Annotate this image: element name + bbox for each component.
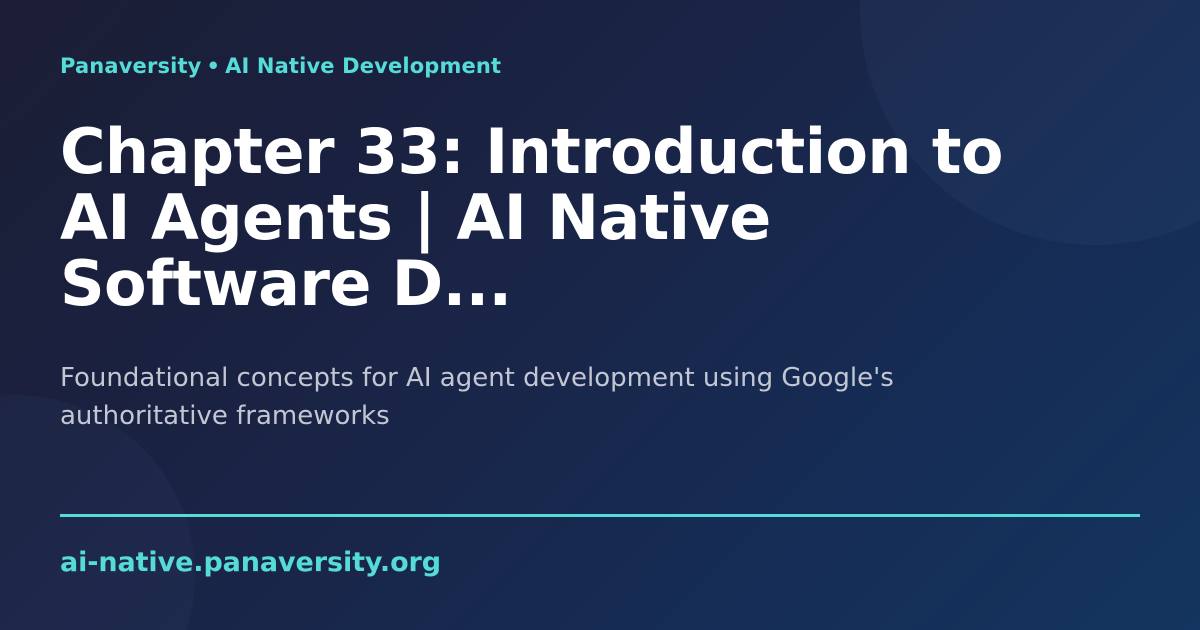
open-graph-card: Panaversity•AI Native Development Chapte… [0,0,1200,630]
card-content: Panaversity•AI Native Development Chapte… [0,0,1200,630]
content-spacer [60,435,1140,514]
brand-name: Panaversity [60,54,201,78]
category-label: AI Native Development [225,54,501,78]
footer-divider [60,514,1140,517]
eyebrow: Panaversity•AI Native Development [60,56,1140,77]
page-subtitle: Foundational concepts for AI agent devel… [60,359,990,435]
bullet-separator-icon: • [201,54,225,78]
card-footer: ai-native.panaversity.org [60,514,1140,576]
site-url: ai-native.panaversity.org [60,549,1140,576]
page-title: Chapter 33: Introduction to AI Agents | … [60,119,1050,317]
